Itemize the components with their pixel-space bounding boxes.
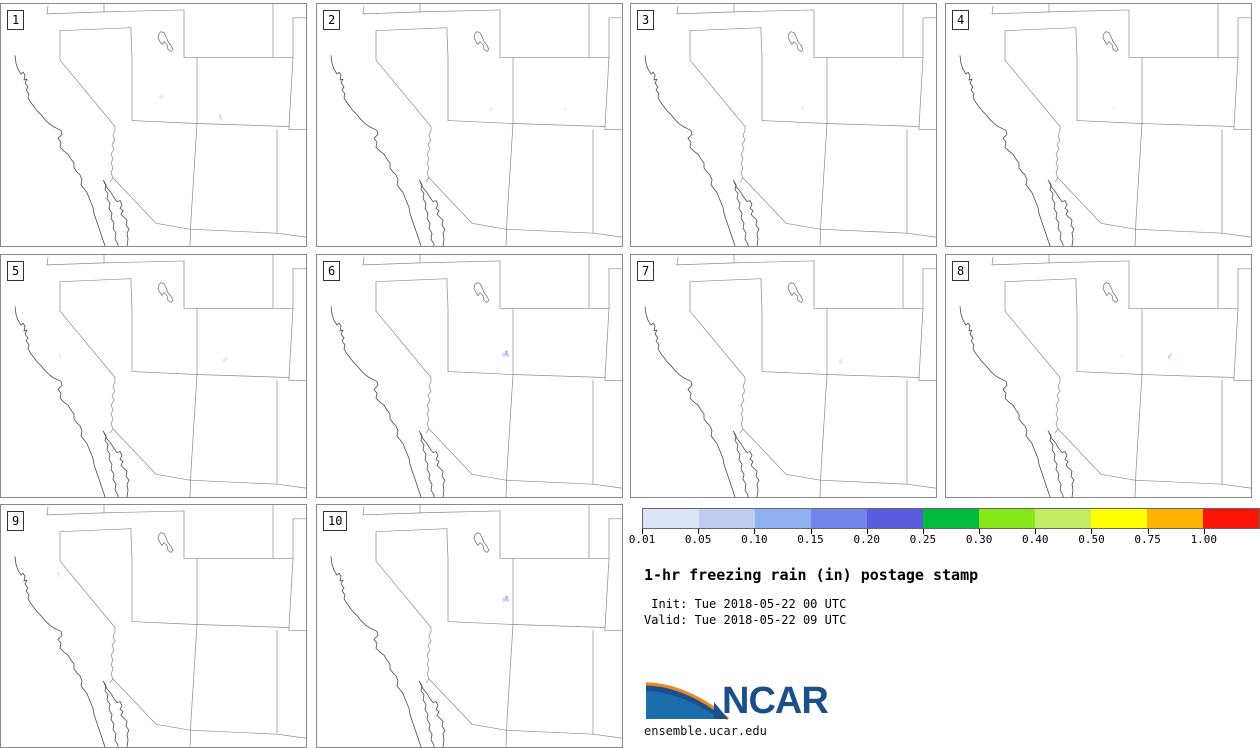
coastline bbox=[331, 55, 445, 246]
precip-cell bbox=[220, 118, 222, 121]
precip-cell bbox=[58, 575, 60, 577]
precip-cell bbox=[159, 96, 161, 98]
precip-cell bbox=[59, 354, 61, 357]
state-borders bbox=[677, 255, 936, 497]
colorbar bbox=[642, 508, 1260, 529]
panel-number-label: 5 bbox=[7, 261, 24, 281]
precip-cell bbox=[802, 107, 804, 109]
great-salt-lake bbox=[158, 283, 173, 303]
map-graphic bbox=[317, 505, 622, 747]
colorbar-tick-labels: 0.010.050.100.150.200.250.300.400.500.75… bbox=[642, 533, 1260, 547]
colorbar-segment bbox=[1147, 509, 1203, 528]
colorbar-wrapper bbox=[642, 508, 1260, 529]
legend-area: 0.010.050.100.150.200.250.300.400.500.75… bbox=[630, 500, 1260, 746]
great-salt-lake bbox=[788, 32, 803, 52]
state-borders bbox=[677, 4, 936, 246]
panel-number-label: 8 bbox=[952, 261, 969, 281]
precip-cell bbox=[841, 359, 843, 362]
colorbar-tick-label: 1.00 bbox=[1191, 533, 1218, 546]
coastline bbox=[645, 306, 759, 497]
precip-cell bbox=[502, 598, 505, 601]
meta-block: Init: Tue 2018-05-22 00 UTC Valid: Tue 2… bbox=[644, 596, 1244, 628]
valid-time-line: Valid: Tue 2018-05-22 09 UTC bbox=[644, 612, 1244, 628]
panel-number-label: 4 bbox=[952, 10, 969, 30]
colorbar-segment bbox=[1203, 509, 1259, 528]
panel-number-label: 3 bbox=[637, 10, 654, 30]
great-salt-lake bbox=[1103, 283, 1118, 303]
ncar-wordmark: NCAR bbox=[722, 680, 828, 722]
colorbar-segment bbox=[923, 509, 979, 528]
ncar-url-label: ensemble.ucar.edu bbox=[644, 724, 767, 739]
map-graphic bbox=[631, 255, 936, 497]
colorbar-segment bbox=[1035, 509, 1091, 528]
precip-cell bbox=[1113, 107, 1115, 109]
coastline bbox=[15, 556, 129, 747]
precip-cell bbox=[564, 108, 566, 110]
precip-cell bbox=[1170, 353, 1172, 356]
colorbar-tick-label: 0.20 bbox=[853, 533, 880, 546]
map-graphic bbox=[1, 4, 306, 246]
map-graphic bbox=[317, 255, 622, 497]
ncar-logo: NCAR ensemble.ucar.edu bbox=[644, 678, 944, 742]
coastline bbox=[331, 556, 445, 747]
great-salt-lake bbox=[158, 32, 173, 52]
map-panel-9[interactable]: 9 bbox=[0, 504, 307, 748]
map-panel-8[interactable]: 8 bbox=[945, 254, 1252, 498]
map-graphic bbox=[946, 4, 1251, 246]
map-panel-7[interactable]: 7 bbox=[630, 254, 937, 498]
panel-number-label: 9 bbox=[7, 511, 24, 531]
panel-number-label: 1 bbox=[7, 10, 24, 30]
precip-cell bbox=[503, 356, 505, 358]
colorbar-segment bbox=[1091, 509, 1147, 528]
map-panel-2[interactable]: 2 bbox=[316, 3, 623, 247]
panel-number-label: 7 bbox=[637, 261, 654, 281]
map-graphic bbox=[946, 255, 1251, 497]
colorbar-tick-label: 0.15 bbox=[797, 533, 824, 546]
state-borders bbox=[47, 255, 306, 497]
precip-cell bbox=[503, 601, 505, 603]
colorbar-segment bbox=[699, 509, 755, 528]
ncar-logo-mark-icon bbox=[644, 678, 730, 722]
coastline bbox=[645, 55, 759, 246]
precip-cell bbox=[491, 108, 493, 110]
great-salt-lake bbox=[474, 283, 489, 303]
colorbar-segment bbox=[867, 509, 923, 528]
great-salt-lake bbox=[474, 533, 489, 553]
precip-cell bbox=[502, 353, 505, 356]
great-salt-lake bbox=[788, 283, 803, 303]
title-block: 1-hr freezing rain (in) postage stamp In… bbox=[644, 566, 1244, 628]
precip-cell bbox=[507, 599, 509, 602]
great-salt-lake bbox=[1103, 32, 1118, 52]
state-borders bbox=[47, 4, 306, 246]
map-panel-3[interactable]: 3 bbox=[630, 3, 937, 247]
colorbar-segment bbox=[979, 509, 1035, 528]
map-panel-1[interactable]: 1 bbox=[0, 3, 307, 247]
coastline bbox=[960, 55, 1074, 246]
colorbar-tick-label: 0.40 bbox=[1022, 533, 1049, 546]
colorbar-tick-label: 0.25 bbox=[910, 533, 937, 546]
panel-number-label: 2 bbox=[323, 10, 340, 30]
precip-cell bbox=[507, 354, 509, 357]
great-salt-lake bbox=[158, 533, 173, 553]
map-panel-4[interactable]: 4 bbox=[945, 3, 1252, 247]
state-borders bbox=[363, 4, 622, 246]
colorbar-segment bbox=[755, 509, 811, 528]
coastline bbox=[331, 306, 445, 497]
precip-cell bbox=[57, 572, 59, 575]
map-panel-10[interactable]: 10 bbox=[316, 504, 623, 748]
precip-cell bbox=[161, 95, 163, 98]
colorbar-tick-label: 0.75 bbox=[1134, 533, 1161, 546]
map-graphic bbox=[631, 4, 936, 246]
colorbar-segment bbox=[643, 509, 699, 528]
coastline bbox=[960, 306, 1074, 497]
great-salt-lake bbox=[474, 32, 489, 52]
colorbar-segment bbox=[811, 509, 867, 528]
state-borders bbox=[363, 255, 622, 497]
colorbar-tick-label: 0.10 bbox=[741, 533, 768, 546]
colorbar-tick-label: 0.05 bbox=[685, 533, 712, 546]
coastline bbox=[15, 306, 129, 497]
panel-number-label: 6 bbox=[323, 261, 340, 281]
precip-cell bbox=[1121, 356, 1123, 358]
map-graphic bbox=[317, 4, 622, 246]
panel-number-label: 10 bbox=[323, 511, 347, 531]
page-title: 1-hr freezing rain (in) postage stamp bbox=[644, 566, 1244, 585]
precip-cell bbox=[489, 109, 491, 111]
map-panel-5[interactable]: 5 bbox=[0, 254, 307, 498]
init-time-line: Init: Tue 2018-05-22 00 UTC bbox=[644, 596, 1244, 612]
state-borders bbox=[992, 4, 1251, 246]
colorbar-tick-label: 0.01 bbox=[629, 533, 656, 546]
colorbar-tick-label: 0.30 bbox=[966, 533, 993, 546]
state-borders bbox=[47, 505, 306, 747]
map-graphic bbox=[1, 255, 306, 497]
precip-cell bbox=[60, 357, 62, 359]
map-graphic bbox=[1, 505, 306, 747]
coastline bbox=[15, 55, 129, 246]
map-panel-6[interactable]: 6 bbox=[316, 254, 623, 498]
precip-cell bbox=[225, 357, 227, 360]
state-borders bbox=[992, 255, 1251, 497]
colorbar-tick-label: 0.50 bbox=[1078, 533, 1105, 546]
state-borders bbox=[363, 505, 622, 747]
